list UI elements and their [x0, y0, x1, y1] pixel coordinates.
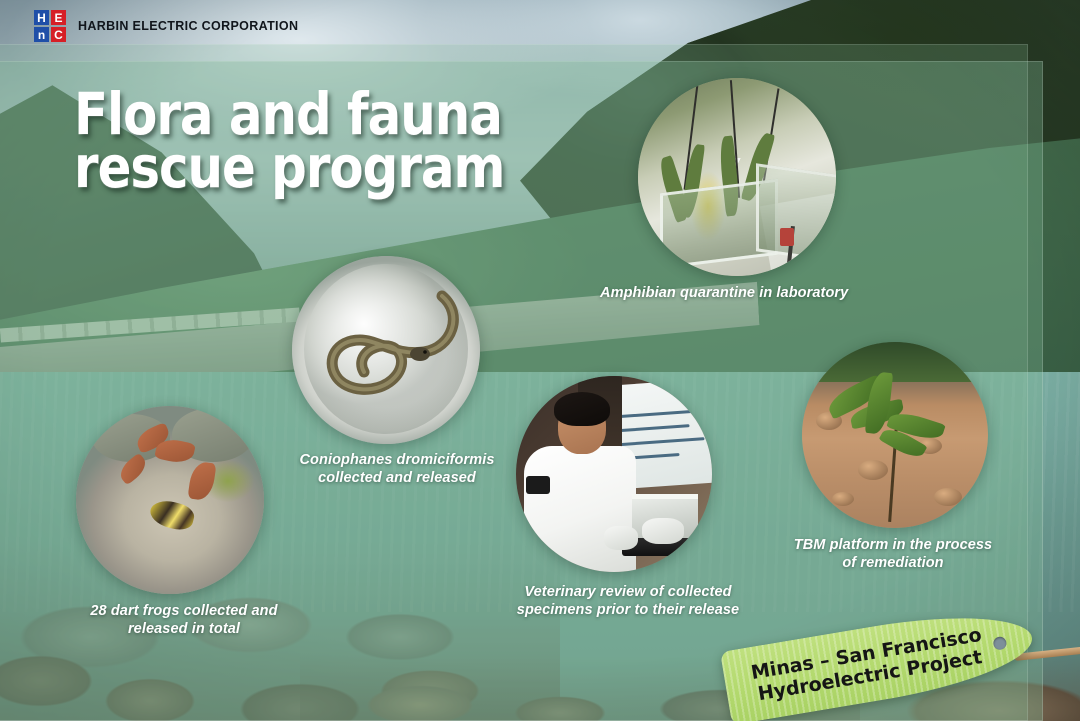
photo-tbm-platform: [802, 342, 988, 528]
photo-snake: [292, 256, 480, 444]
caption-dart-frogs: 28 dart frogs collected and released in …: [48, 603, 320, 638]
tag-label: Minas – San Francisco Hydroelectric Proj…: [720, 601, 1038, 721]
photo-dart-frog: [76, 406, 264, 594]
caption-snake: Coniophanes dromiciformis collected and …: [278, 452, 516, 487]
photo-frogs-content: [76, 406, 264, 594]
board-line-2: [620, 424, 690, 432]
power-plug: [780, 228, 794, 246]
soil-clod-2: [858, 460, 888, 480]
brand-name: HARBIN ELECTRIC CORPORATION: [78, 19, 298, 33]
photo-sapling-content: [802, 342, 988, 528]
logo-cell-2: E: [51, 10, 66, 25]
photo-vet-content: [516, 376, 712, 572]
vegetation-horizon: [802, 342, 988, 382]
photo-veterinary-review: [516, 376, 712, 572]
photo-amphibian-quarantine: [638, 78, 836, 276]
dart-frog: [148, 497, 197, 533]
project-tag: Minas – San Francisco Hydroelectric Proj…: [714, 606, 1080, 718]
poster-slide: H E n C HARBIN ELECTRIC CORPORATION Flor…: [0, 0, 1080, 721]
caption-tbm-platform: TBM platform in the process of remediati…: [768, 537, 1018, 572]
board-line-3: [621, 437, 705, 446]
photo-snake-content: [292, 256, 480, 444]
id-badge: [526, 476, 550, 494]
logo-cell-3: n: [34, 27, 49, 42]
glove-left: [604, 526, 638, 550]
tag-card: Minas – San Francisco Hydroelectric Proj…: [720, 601, 1038, 721]
caption-amphibian-quarantine: Amphibian quarantine in laboratory: [600, 285, 900, 303]
glove-right: [642, 518, 684, 544]
brand-lockup: H E n C HARBIN ELECTRIC CORPORATION: [34, 10, 298, 42]
lab-coat: [524, 446, 636, 572]
hec-logo-icon: H E n C: [34, 10, 66, 42]
soil-clod-4: [934, 488, 962, 506]
terrarium-back: [756, 163, 836, 264]
logo-cell-1: H: [34, 10, 49, 25]
logo-cell-4: C: [51, 27, 66, 42]
person-hair: [554, 392, 610, 426]
board-line-1: [619, 410, 699, 419]
snake-shape: [292, 256, 480, 444]
photo-lab-content: [638, 78, 836, 276]
page-title: Flora and fauna rescue program: [74, 88, 521, 195]
soil-clod-5: [832, 492, 854, 506]
